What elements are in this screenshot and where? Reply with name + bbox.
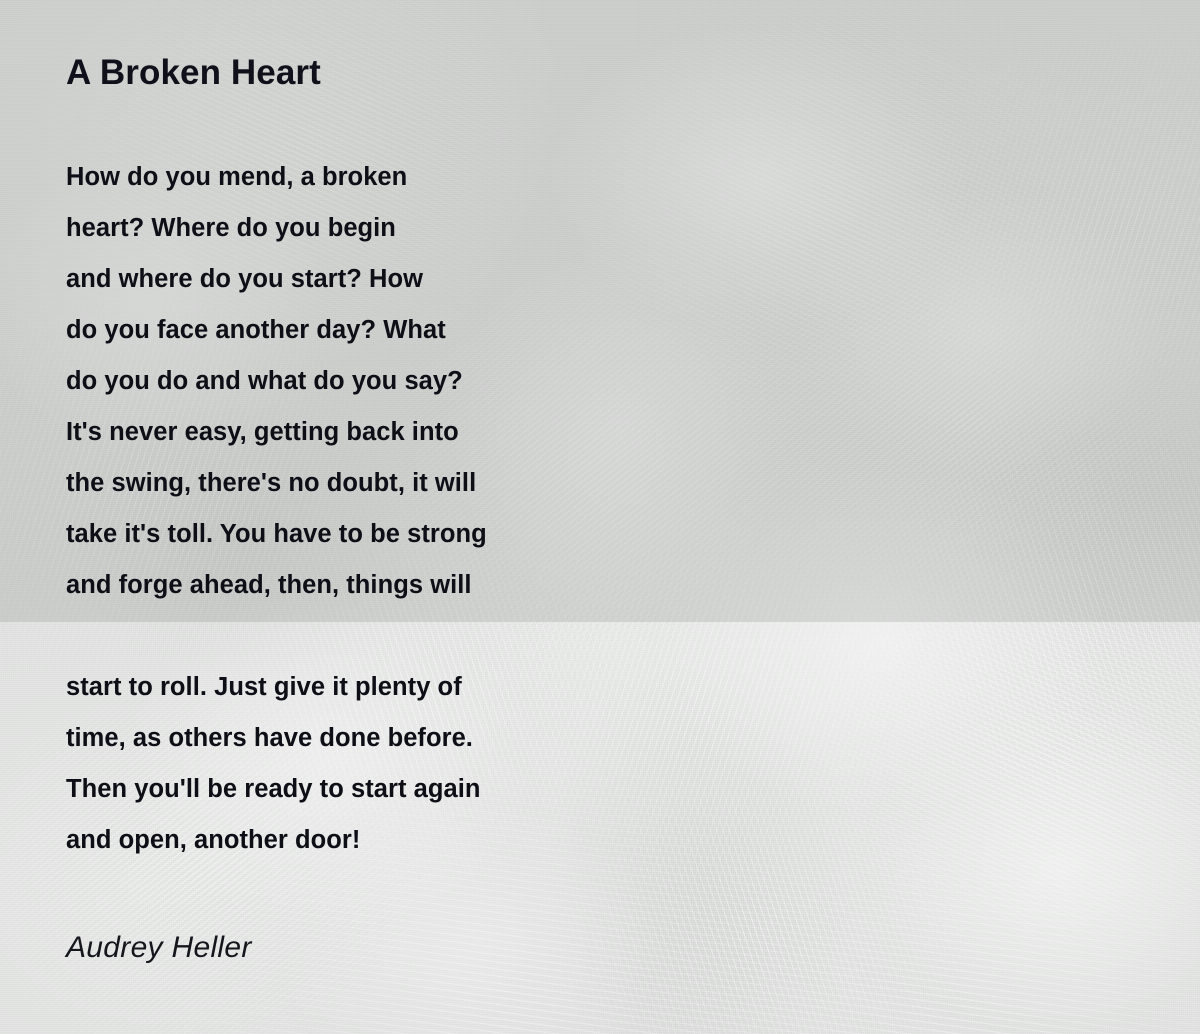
poem-title: A Broken Heart [66, 52, 321, 94]
poem-line: heart? Where do you begin [66, 203, 686, 254]
poem-line: time, as others have done before. [66, 713, 686, 764]
poem-author: Audrey Heller [66, 931, 252, 965]
poem-line: do you do and what do you say? [66, 356, 686, 407]
poem-text-layer: A Broken Heart How do you mend, a broken… [0, 0, 1200, 1034]
poem-line: start to roll. Just give it plenty of [66, 662, 686, 713]
poem-line: and forge ahead, then, things will [66, 560, 686, 611]
poem-line: the swing, there's no doubt, it will [66, 458, 686, 509]
poem-line: How do you mend, a broken [66, 152, 686, 203]
poem-body: How do you mend, a brokenheart? Where do… [66, 152, 686, 866]
stanza-break [66, 611, 686, 662]
poem-line: and open, another door! [66, 815, 686, 866]
poem-line: do you face another day? What [66, 305, 686, 356]
poem-line: Then you'll be ready to start again [66, 764, 686, 815]
poem-line: take it's toll. You have to be strong [66, 509, 686, 560]
poem-image-card: A Broken Heart How do you mend, a broken… [0, 0, 1200, 1034]
poem-line: It's never easy, getting back into [66, 407, 686, 458]
poem-line: and where do you start? How [66, 254, 686, 305]
